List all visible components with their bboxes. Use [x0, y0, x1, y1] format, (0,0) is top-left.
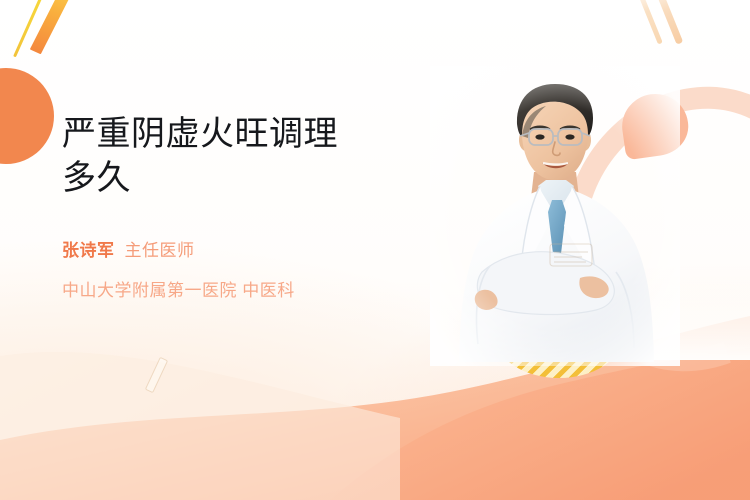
orange-stripe-decoration: [30, 0, 76, 54]
doctor-portrait-photo: [430, 66, 680, 366]
peach-blob-decoration: [618, 90, 692, 161]
face: [522, 92, 588, 180]
ear-right: [577, 129, 591, 151]
doctor-name: 张诗军: [62, 241, 115, 260]
wave-peach: [0, 316, 750, 500]
neck: [530, 172, 580, 206]
photo-edge-fade: [430, 66, 680, 366]
byline: 张诗军主任医师: [62, 240, 432, 263]
eyebrow-right: [561, 127, 579, 129]
doctor-article-cover-card: 严重阴虚火旺调理 多久 张诗军主任医师 中山大学附属第一医院 中医科: [0, 0, 750, 500]
wave-cream-left-fade: [0, 352, 400, 500]
ear-left: [519, 129, 533, 151]
hand-left: [475, 290, 498, 310]
yellow-stripe-decoration: [13, 0, 46, 57]
outlined-stripe-decoration: [145, 357, 168, 393]
wave-cream: [0, 352, 750, 500]
hand-right: [579, 276, 608, 298]
eye-right: [565, 134, 574, 139]
necktie: [548, 200, 566, 262]
peach-arc-fade-mask: [560, 240, 750, 360]
cream-stripe-decoration-b: [650, 0, 683, 45]
text-block: 严重阴虚火旺调理 多久 张诗军主任医师 中山大学附属第一医院 中医科: [62, 112, 432, 301]
shirt: [538, 180, 574, 216]
hair: [517, 84, 593, 136]
bottom-wave-decoration: [0, 280, 750, 500]
coat-embroidery: [550, 244, 592, 266]
mouth: [542, 163, 569, 168]
eyebrow-left: [531, 127, 549, 129]
lapel-left: [520, 186, 548, 280]
eyeglasses: [520, 129, 590, 145]
peach-arc-decoration: [516, 42, 750, 417]
teeth: [543, 163, 568, 165]
wave-salmon: [330, 348, 750, 500]
cream-stripe-decoration-a: [634, 0, 663, 45]
eye-left: [535, 134, 544, 139]
yellow-striped-circle-decoration: [496, 296, 622, 378]
doctor-affiliation: 中山大学附属第一医院 中医科: [62, 276, 432, 301]
orange-circle-decoration: [0, 68, 54, 164]
lab-coat: [459, 186, 654, 362]
doctor-professional-title: 主任医师: [125, 241, 195, 260]
lapel-right: [564, 186, 596, 280]
nose: [553, 142, 560, 155]
crossed-arms: [477, 252, 614, 315]
page-title: 严重阴虚火旺调理 多久: [62, 112, 432, 200]
